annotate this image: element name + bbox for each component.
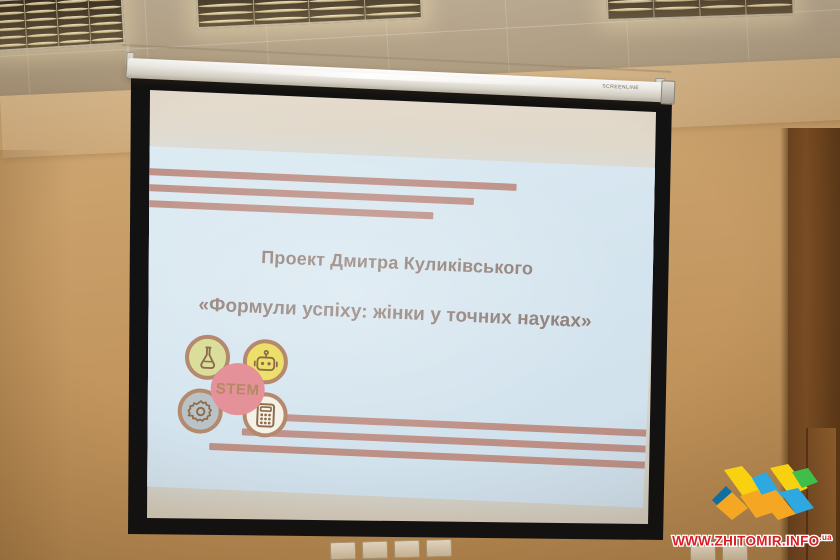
- zhitomir-info-logo-icon: [696, 462, 822, 524]
- light-switch[interactable]: [394, 540, 420, 559]
- stem-diagram: STEM: [172, 333, 302, 442]
- ceiling-light-fixture: [0, 0, 125, 52]
- presentation-slide: Проект Дмитра Куликівського «Формули усп…: [131, 146, 657, 508]
- light-switch[interactable]: [426, 539, 452, 558]
- slide-subtitle: «Формули успіху: жінки у точних науках»: [139, 292, 651, 336]
- light-switch[interactable]: [362, 541, 388, 560]
- gear-icon: [187, 398, 214, 425]
- site-watermark: WWW.ZHITOMIR.INFO.ua: [682, 462, 832, 554]
- wall-left-shadow: [0, 150, 70, 560]
- slide-title: Проект Дмитра Куликівського: [141, 242, 653, 285]
- watermark-text: WWW.ZHITOMIR.INFO.ua: [668, 533, 836, 549]
- watermark-site: WWW.ZHITOMIR.INFO: [672, 533, 819, 548]
- light-switch[interactable]: [330, 542, 356, 560]
- roller-case-brand: SCREENLINE: [602, 84, 639, 92]
- watermark-tld: .ua: [819, 533, 831, 542]
- light-switch-group[interactable]: [330, 538, 490, 560]
- flask-icon: [194, 344, 221, 371]
- roller-endcap: [660, 80, 675, 105]
